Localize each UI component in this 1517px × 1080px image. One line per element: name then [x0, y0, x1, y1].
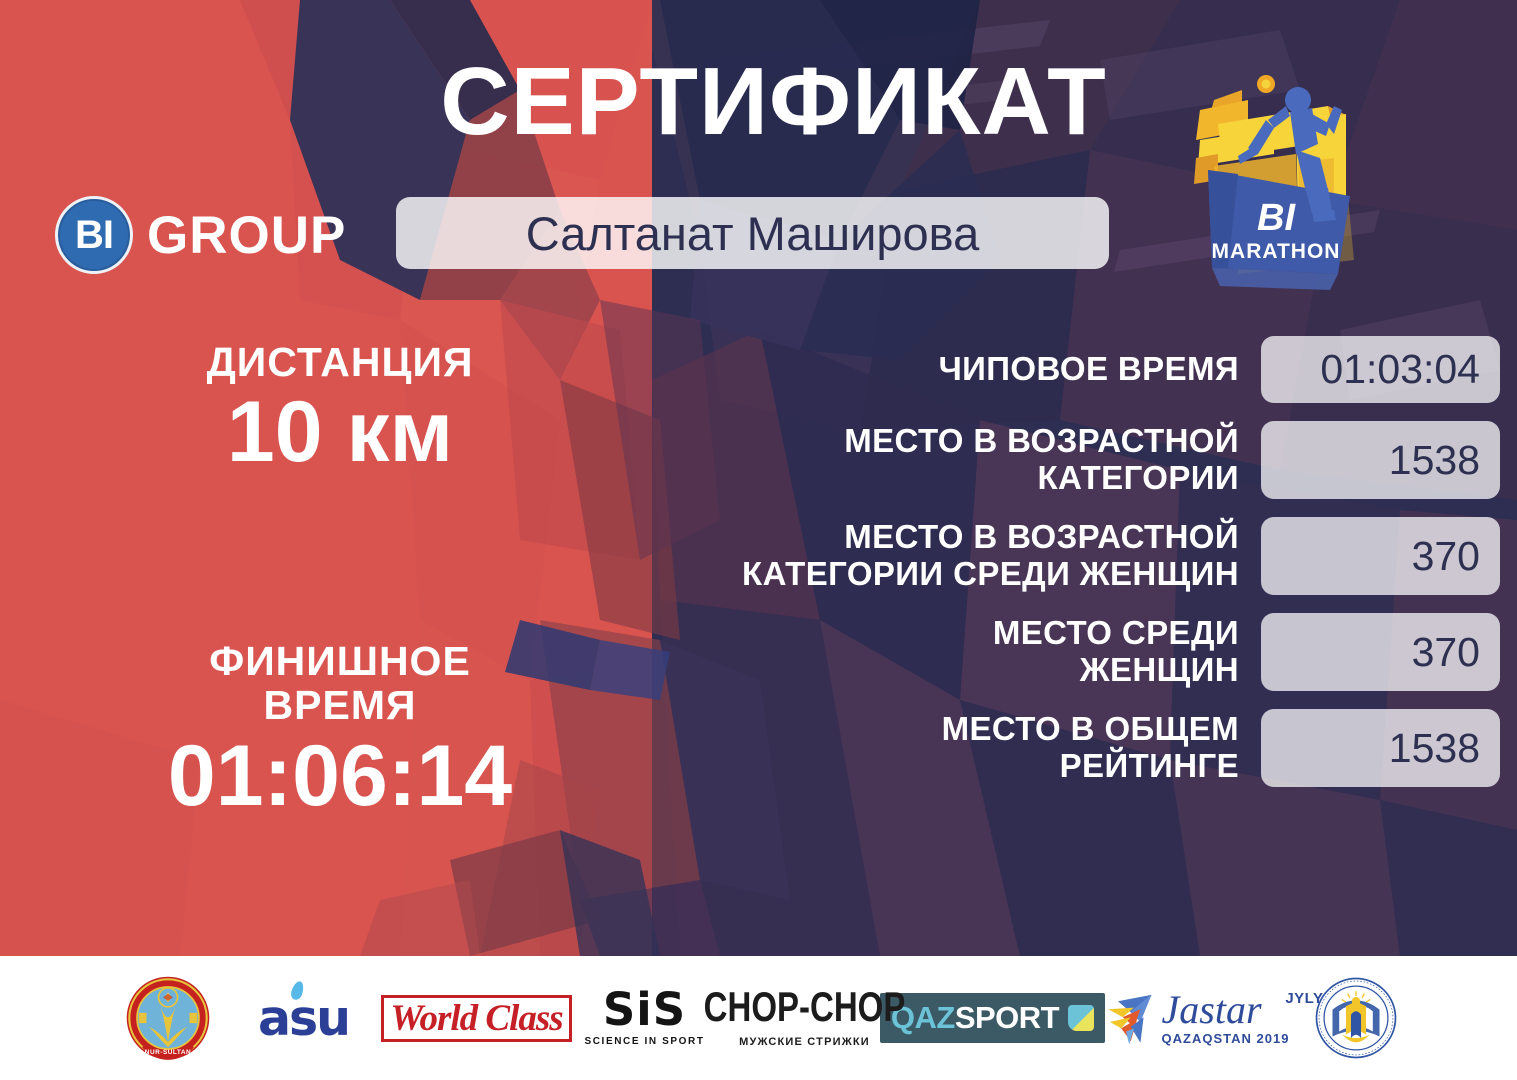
chop-chop-wordmark: CHOP-CHOP [704, 983, 906, 1031]
sponsor-sis: SiS SCIENCE IN SPORT [575, 973, 715, 1063]
finish-time-label-line1: ФИНИШНОЕ [60, 639, 620, 683]
asu-logo-icon: asu [258, 990, 349, 1047]
stat-value-chip: 370 [1261, 613, 1500, 691]
stat-label: МЕСТО СРЕДИ ЖЕНЩИН [640, 615, 1261, 689]
nur-sultan-emblem-icon: NUR-SULTAN [125, 975, 211, 1061]
sponsor-qazsport: QAZSPORT [895, 973, 1091, 1063]
qazsport-text-sport: SPORT [955, 1000, 1059, 1035]
sis-tagline: SCIENCE IN SPORT [584, 1036, 704, 1047]
stat-label-line1: МЕСТО В ОБЩЕМ [640, 711, 1239, 748]
qazsport-logo-icon: QAZSPORT [880, 993, 1105, 1043]
participant-name: Салтанат Маширова [526, 206, 979, 261]
certificate-panel: СЕРТИФИКАТ BI GROUP Салтанат Маширова [0, 0, 1517, 956]
asu-wordmark: asu [258, 990, 349, 1047]
stat-row: МЕСТО В ВОЗРАСТНОЙ КАТЕГОРИИ 1538 [640, 421, 1500, 499]
jastar-logo-icon: Jastar JYLY QAZAQSTAN 2019 [1102, 990, 1290, 1046]
jastar-subtitle: QAZAQSTAN 2019 [1162, 1031, 1290, 1046]
right-stats-column: ЧИПОВОЕ ВРЕМЯ 01:03:04 МЕСТО В ВОЗРАСТНО… [640, 336, 1500, 805]
sis-wordmark: SiS [584, 989, 704, 1032]
sponsor-nur-sultan: NUR-SULTAN [107, 973, 229, 1063]
stat-value-chip: 01:03:04 [1261, 336, 1500, 403]
bi-badge-icon: BI [55, 196, 133, 274]
stat-label-line2: ЖЕНЩИН [640, 652, 1239, 689]
jastar-wordmark-block: Jastar JYLY QAZAQSTAN 2019 [1162, 990, 1290, 1046]
stat-label-line1: МЕСТО В ВОЗРАСТНОЙ [640, 519, 1239, 556]
stat-label-line1: ЧИПОВОЕ ВРЕМЯ [640, 351, 1239, 388]
sponsor-jastar-jyly: Jastar JYLY QAZAQSTAN 2019 [1091, 973, 1301, 1063]
sponsor-ministry [1301, 973, 1411, 1063]
marathon-text-bi: BI [1257, 197, 1296, 239]
sponsor-chop-chop: CHOP-CHOP МУЖСКИЕ СТРИЖКИ [715, 973, 895, 1063]
stat-label-line1: МЕСТО В ВОЗРАСТНОЙ [640, 423, 1239, 460]
sponsor-asu: asu [229, 973, 379, 1063]
left-stats-column: ДИСТАНЦИЯ 10 км ФИНИШНОЕ ВРЕМЯ 01:06:14 [60, 340, 620, 823]
finish-time-label-line2: ВРЕМЯ [60, 683, 620, 727]
stat-row: ЧИПОВОЕ ВРЕМЯ 01:03:04 [640, 336, 1500, 403]
stat-label: МЕСТО В ВОЗРАСТНОЙ КАТЕГОРИИ [640, 423, 1261, 497]
sponsor-world-class: World Class [379, 973, 575, 1063]
chop-chop-tagline: МУЖСКИЕ СТРИЖКИ [704, 1036, 906, 1048]
qazsport-wordmark: QAZSPORT [891, 1000, 1059, 1036]
sponsor-footer: NUR-SULTAN asu World Class SiS SCIENCE I… [0, 956, 1517, 1080]
bi-group-logo: BI GROUP [55, 196, 346, 274]
stat-row: МЕСТО СРЕДИ ЖЕНЩИН 370 [640, 613, 1500, 691]
stat-label: МЕСТО В ВОЗРАСТНОЙ КАТЕГОРИИ СРЕДИ ЖЕНЩИ… [640, 519, 1261, 593]
distance-label: ДИСТАНЦИЯ [60, 340, 620, 384]
stat-label: ЧИПОВОЕ ВРЕМЯ [640, 351, 1261, 388]
stat-label-line2: РЕЙТИНГЕ [640, 748, 1239, 785]
sis-logo-icon: SiS SCIENCE IN SPORT [584, 989, 704, 1047]
stat-label: МЕСТО В ОБЩЕМ РЕЙТИНГЕ [640, 711, 1261, 785]
marathon-text-marathon: MARATHON [1212, 240, 1341, 263]
stat-label-line2: КАТЕГОРИИ [640, 460, 1239, 497]
stat-value-chip: 1538 [1261, 709, 1500, 787]
distance-value: 10 км [60, 386, 620, 479]
stat-value-chip: 370 [1261, 517, 1500, 595]
stat-row: МЕСТО В ОБЩЕМ РЕЙТИНГЕ 1538 [640, 709, 1500, 787]
stat-label-line1: МЕСТО СРЕДИ [640, 615, 1239, 652]
stat-row: МЕСТО В ВОЗРАСТНОЙ КАТЕГОРИИ СРЕДИ ЖЕНЩИ… [640, 517, 1500, 595]
finish-time-value: 01:06:14 [60, 730, 620, 823]
svg-text:NUR-SULTAN: NUR-SULTAN [144, 1049, 190, 1056]
stat-value-chip: 1538 [1261, 421, 1500, 499]
chop-chop-logo-icon: CHOP-CHOP МУЖСКИЕ СТРИЖКИ [704, 988, 906, 1048]
finish-time-block: ФИНИШНОЕ ВРЕМЯ 01:06:14 [60, 639, 620, 822]
ministry-emblem-icon [1314, 976, 1398, 1060]
bi-group-wordmark: GROUP [147, 205, 346, 266]
bi-marathon-logo-icon: BI MARATHON [1178, 62, 1378, 297]
jastar-bird-icon [1102, 990, 1158, 1046]
world-class-wordmark: World Class [381, 995, 571, 1042]
participant-name-banner: Салтанат Маширова [396, 197, 1109, 269]
stat-label-line2: КАТЕГОРИИ СРЕДИ ЖЕНЩИН [640, 556, 1239, 593]
jastar-jyly-superscript: JYLY [1285, 990, 1323, 1007]
jastar-wordmark: Jastar [1162, 990, 1290, 1030]
